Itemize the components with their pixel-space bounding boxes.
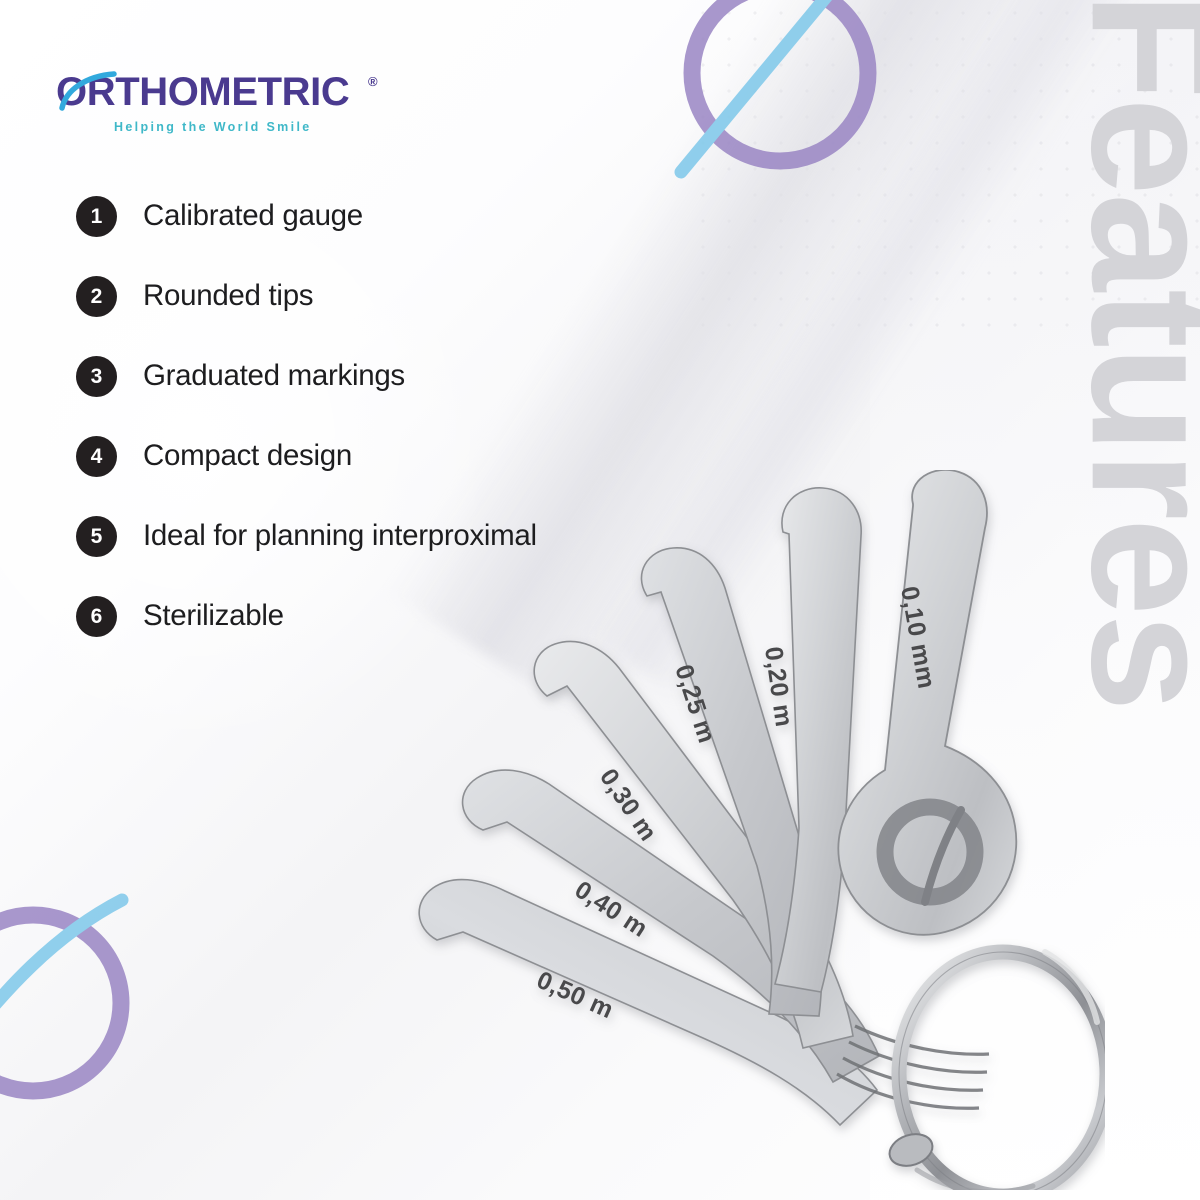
registered-trademark-glyph: ®: [368, 74, 378, 89]
list-item: 3 Graduated markings: [76, 356, 716, 396]
feature-number-badge: 6: [76, 596, 117, 637]
product-image-interproximal-gauge: 0,50 m 0,40 m 0,30 m 0,25 m: [385, 470, 1105, 1190]
watermark-ring-icon-bottom: [0, 878, 158, 1128]
poster-canvas: Features ORTHOMETRIC ® Helping the World…: [0, 0, 1200, 1200]
feature-number-badge: 2: [76, 276, 117, 317]
list-item: 2 Rounded tips: [76, 276, 716, 316]
feature-label: Sterilizable: [143, 599, 284, 633]
feature-label: Rounded tips: [143, 279, 313, 313]
feature-number-badge: 1: [76, 196, 117, 237]
logo-tagline: Helping the World Smile: [114, 120, 396, 134]
gauge-blade-010: 0,10 mm: [838, 470, 1016, 935]
brand-logo: ORTHOMETRIC ® Helping the World Smile: [56, 70, 396, 134]
blade-label-020: 0,20 m: [759, 645, 798, 729]
feature-number-badge: 4: [76, 436, 117, 477]
feature-number-badge: 3: [76, 356, 117, 397]
feature-number-badge: 5: [76, 516, 117, 557]
list-item: 1 Calibrated gauge: [76, 196, 716, 236]
feature-label: Compact design: [143, 439, 352, 473]
watermark-ring-icon-top: [655, 0, 905, 198]
keyring-split-ring: [885, 952, 1105, 1190]
feature-label: Graduated markings: [143, 359, 405, 393]
logo-wordmark: ORTHOMETRIC ®: [56, 70, 386, 116]
feature-label: Calibrated gauge: [143, 199, 363, 233]
